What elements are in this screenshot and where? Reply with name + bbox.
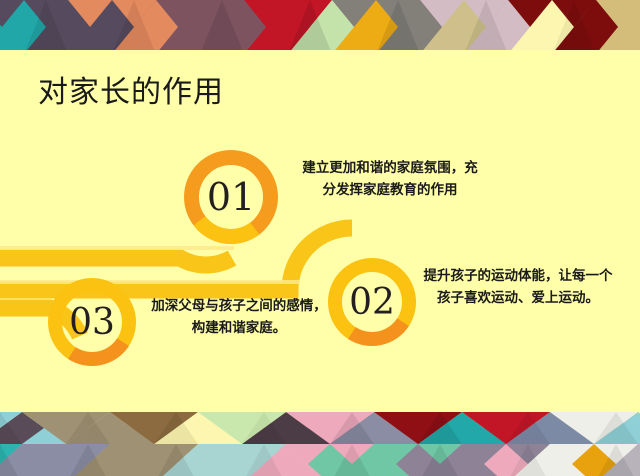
step-number-01: 01 (184, 150, 278, 244)
step-node-01: 01 (184, 150, 278, 244)
step-number-02: 02 (328, 258, 416, 346)
page-title: 对家长的作用 (38, 76, 224, 109)
step-node-02: 02 (328, 258, 416, 346)
step-text-02: 提升孩子的运动体能，让每一个孩子喜欢运动、爱上运动。 (418, 266, 618, 310)
triangle-band-top (0, 0, 640, 54)
step-number-03: 03 (48, 278, 136, 366)
rail-to-node-01 (0, 258, 232, 265)
step-text-01: 建立更加和谐的家庭氛围，充分发挥家庭教育的作用 (296, 158, 484, 202)
triangle-band-bottom (0, 404, 640, 476)
step-node-03: 03 (48, 278, 136, 366)
slide-root: 对家长的作用 01 建立更加和谐的家庭氛围，充分发挥家庭教育的作用 02 提升孩… (0, 0, 640, 476)
step-text-03: 加深父母与孩子之间的感情，构建和谐家庭。 (146, 296, 332, 340)
